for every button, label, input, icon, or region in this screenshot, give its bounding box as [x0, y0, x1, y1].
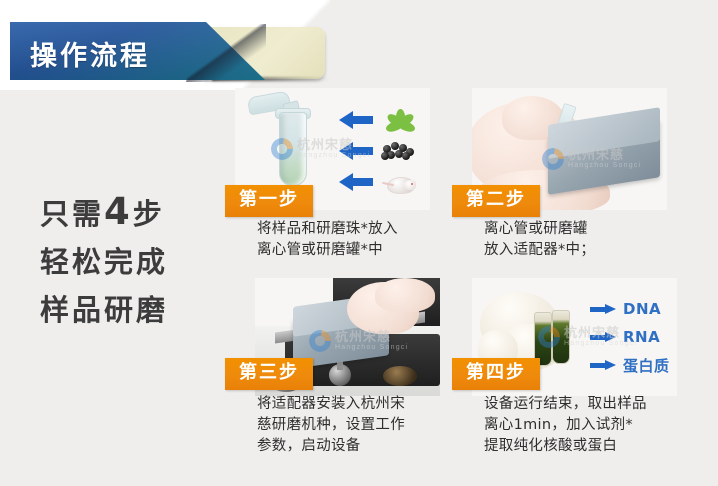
step-card-2: 杭州宋慈 Hangzhou Songci 第二步 离心管或研磨罐 放入适配器*中… — [452, 88, 667, 258]
page-title: 操作流程 — [30, 34, 150, 73]
arrow-right-icon-3 — [590, 360, 616, 370]
grinding-beads-icon — [381, 140, 415, 160]
arrow-right-icon-1 — [590, 304, 616, 314]
leaf-icon — [385, 106, 415, 132]
step-card-3: 杭州宋慈 Hangzhou Songci 第三步 将适配器安装入杭州宋 慈研磨机… — [225, 278, 435, 468]
headline-block: 只需4步 轻松完成 样品研磨 — [40, 188, 210, 334]
header-banner: 操作流程 — [0, 22, 420, 86]
centrifuge-tube-icon — [279, 112, 307, 186]
headline-prefix: 只需 — [40, 197, 104, 231]
step-badge-4[interactable]: 第四步 — [452, 358, 540, 390]
step-caption-4: 设备运行结束，取出样品 离心1min，加入试剂* 提取纯化核酸或蛋白 — [484, 394, 679, 457]
output-label-rna: RNA — [623, 328, 660, 346]
step-caption-1: 将样品和研磨珠*放入 离心管或研磨罐*中 — [257, 219, 437, 261]
step-card-4: DNA RNA 蛋白质 杭州宋慈 Hangzhou Songci 第 — [452, 278, 677, 468]
headline-line-2: 轻松完成 — [40, 238, 210, 286]
output-list: DNA RNA 蛋白质 — [590, 298, 670, 376]
step-caption-2: 离心管或研磨罐 放入适配器*中； — [484, 219, 669, 261]
operation-flow-infographic: 操作流程 只需4步 轻松完成 样品研磨 — [0, 0, 718, 486]
headline-line-3: 样品研磨 — [40, 286, 210, 334]
output-row-dna: DNA — [590, 298, 670, 320]
arrow-right-icon-2 — [590, 332, 616, 342]
step-card-1: 杭州宋慈 Hangzhou Songci 第一步 将样品和研磨珠*放入 离心管或… — [225, 88, 430, 258]
output-label-protein: 蛋白质 — [623, 355, 670, 376]
banner-fold-shadow — [186, 24, 266, 82]
output-row-protein: 蛋白质 — [590, 354, 670, 376]
step-badge-1[interactable]: 第一步 — [225, 185, 313, 217]
headline-step-count: 4 — [104, 190, 133, 233]
sample-tube-icon-2 — [552, 310, 570, 364]
step-badge-3[interactable]: 第三步 — [225, 358, 313, 390]
mouse-icon — [382, 174, 418, 194]
output-label-dna: DNA — [623, 300, 661, 318]
output-row-rna: RNA — [590, 326, 670, 348]
step-badge-2[interactable]: 第二步 — [452, 185, 540, 217]
headline-suffix: 步 — [133, 197, 165, 231]
fingers-icon — [375, 278, 435, 312]
step-caption-3: 将适配器安装入杭州宋 慈研磨机种，设置工作 参数，启动设备 — [257, 394, 442, 457]
headline-line-1: 只需4步 — [40, 188, 210, 238]
